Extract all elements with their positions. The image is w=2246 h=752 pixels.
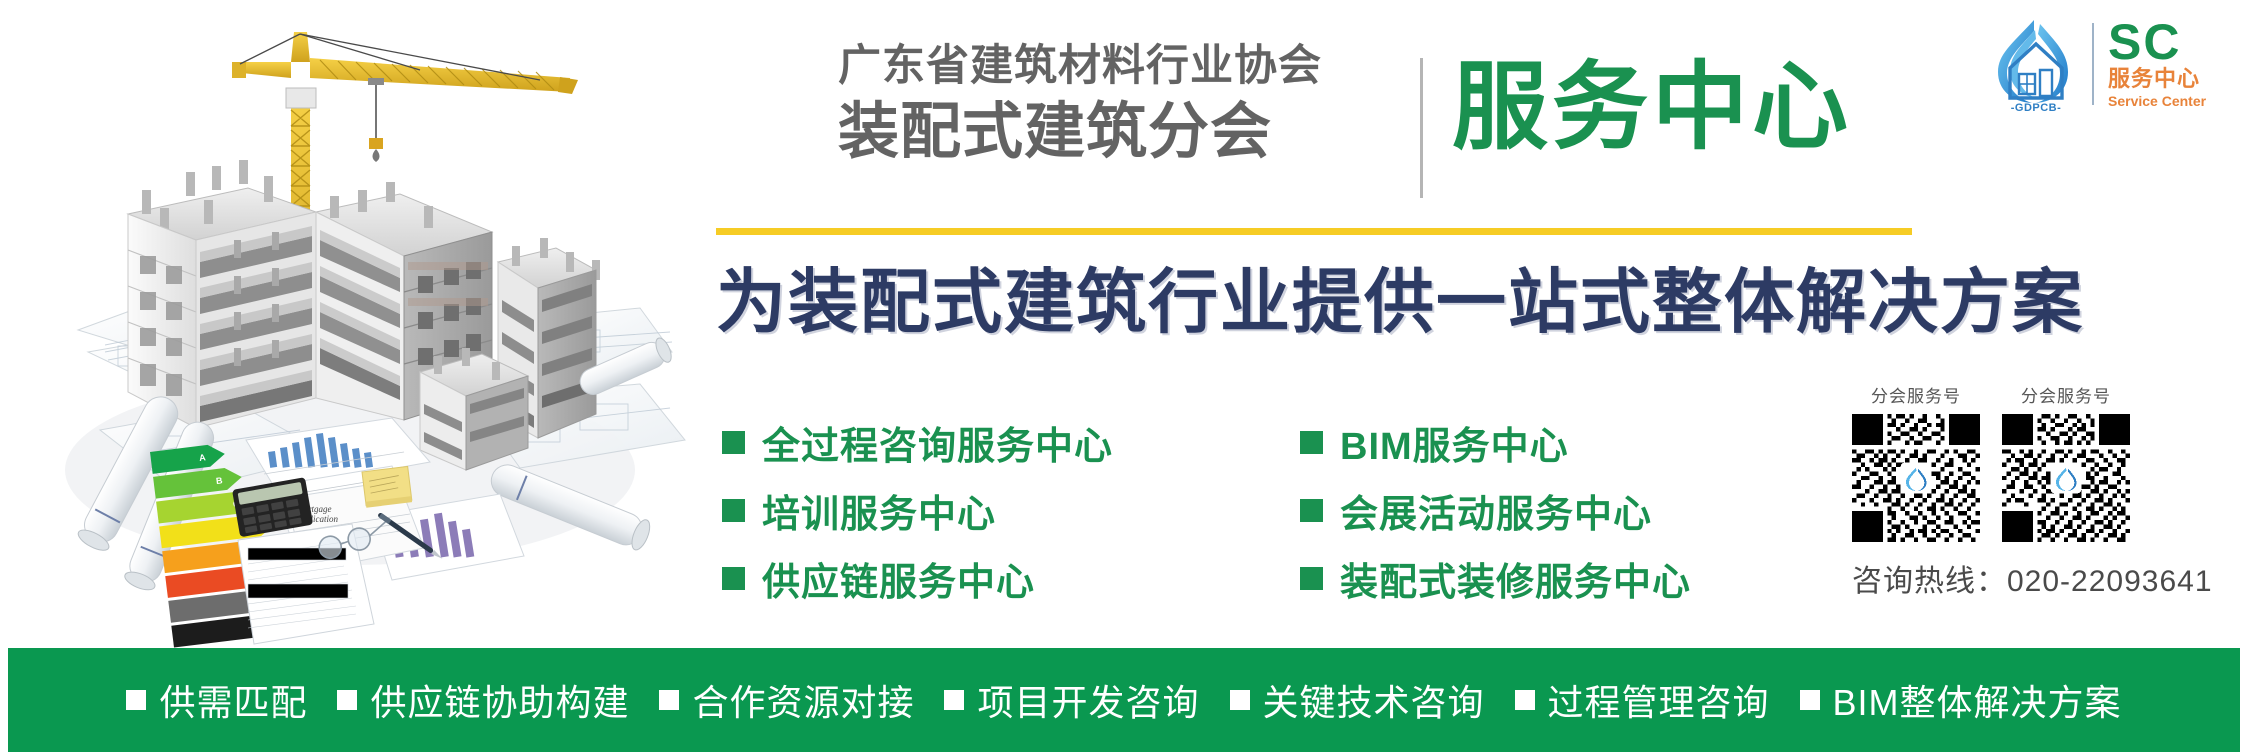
logo-english-text: Service Center [2108,92,2206,110]
logo-vertical-divider [2092,23,2094,105]
house-flame-logo-icon: -GDPCB- [1988,14,2084,114]
list-item[interactable]: BIM整体解决方案 [1800,674,2122,726]
list-item[interactable]: 供应链服务中心 [722,544,1113,612]
hotline-text: 咨询热线：020-22093641 [1852,556,2228,600]
service-center-title: 服务中心 [1452,48,1852,168]
service-list-right-column: BIM服务中心 会展活动服务中心 装配式装修服务中心 [1300,408,1691,612]
list-item[interactable]: 全过程咨询服务中心 [722,408,1113,476]
sticky-note [362,466,412,507]
qr-code-cell: 分会服务号 [2002,382,2130,542]
list-item[interactable]: 关键技术咨询 [1230,674,1485,726]
qr-contact-block: 分会服务号 [1852,382,2228,600]
square-bullet-icon [1300,567,1323,590]
bar-item-label: 项目开发咨询 [977,674,1199,726]
service-label: 供应链服务中心 [762,551,1035,606]
list-item[interactable]: 供需匹配 [126,674,307,726]
square-bullet-icon [722,431,745,454]
construction-building-blueprints-crane-illustration: ABC DEF GH [0,0,700,648]
square-bullet-icon [126,690,146,710]
qr-code-icon[interactable] [1852,414,1980,542]
square-bullet-icon [722,499,745,522]
service-label: 装配式装修服务中心 [1340,551,1691,606]
list-item[interactable]: 项目开发咨询 [944,674,1199,726]
association-service-center-banner: ABC DEF GH [0,0,2246,752]
service-list-left-column: 全过程咨询服务中心 培训服务中心 供应链服务中心 [722,408,1113,612]
square-bullet-icon [722,567,745,590]
bar-item-label: 合作资源对接 [692,674,914,726]
list-item[interactable]: 供应链协助构建 [337,674,629,726]
square-bullet-icon [1800,690,1820,710]
service-label: 全过程咨询服务中心 [762,415,1113,470]
list-item[interactable]: BIM服务中心 [1300,408,1691,476]
qr-caption: 分会服务号 [1852,382,1980,407]
service-label: BIM服务中心 [1340,415,1569,470]
list-item[interactable]: 合作资源对接 [659,674,914,726]
square-bullet-icon [337,690,357,710]
svg-text:-GDPCB-: -GDPCB- [2011,102,2062,114]
square-bullet-icon [944,690,964,710]
qr-code-cell: 分会服务号 [1852,382,1980,542]
brand-logo-block[interactable]: -GDPCB- SC 服务中心 Service Center [1988,14,2232,114]
bar-item-label: 供应链协助构建 [370,674,629,726]
square-bullet-icon [1230,690,1250,710]
bar-item-label: 关键技术咨询 [1263,674,1485,726]
headline-slogan: 为装配式建筑行业提供一站式整体解决方案 [716,258,2084,346]
logo-sc-text: SC [2108,18,2206,66]
logo-chinese-text: 服务中心 [2108,66,2206,92]
gold-divider-rule [716,228,1912,235]
qr-code-row: 分会服务号 [1852,382,2228,542]
bar-item-label: BIM整体解决方案 [1833,674,2122,726]
logo-text-block: SC 服务中心 Service Center [2108,18,2206,110]
list-item[interactable]: 培训服务中心 [722,476,1113,544]
bottom-bar-item-list: 供需匹配 供应链协助构建 合作资源对接 项目开发咨询 关键技术咨询 过程管理咨询 [126,674,2121,726]
square-bullet-icon [1300,499,1323,522]
list-item[interactable]: 会展活动服务中心 [1300,476,1691,544]
qr-code-icon[interactable] [2002,414,2130,542]
square-bullet-icon [1515,690,1535,710]
square-bullet-icon [1300,431,1323,454]
list-item[interactable]: 过程管理咨询 [1515,674,1770,726]
bar-item-label: 过程管理咨询 [1548,674,1770,726]
service-label: 培训服务中心 [762,483,996,538]
bar-item-label: 供需匹配 [159,674,307,726]
association-name-block: 广东省建筑材料行业协会 装配式建筑分会 [838,38,1338,168]
qr-caption: 分会服务号 [2002,382,2130,407]
square-bullet-icon [659,690,679,710]
association-name-line1: 广东省建筑材料行业协会 [838,38,1338,94]
association-name-line2: 装配式建筑分会 [838,94,1338,168]
header-vertical-divider [1420,58,1423,198]
service-label: 会展活动服务中心 [1340,483,1652,538]
list-item[interactable]: 装配式装修服务中心 [1300,544,1691,612]
bottom-green-bar: 供需匹配 供应链协助构建 合作资源对接 项目开发咨询 关键技术咨询 过程管理咨询 [8,648,2240,752]
